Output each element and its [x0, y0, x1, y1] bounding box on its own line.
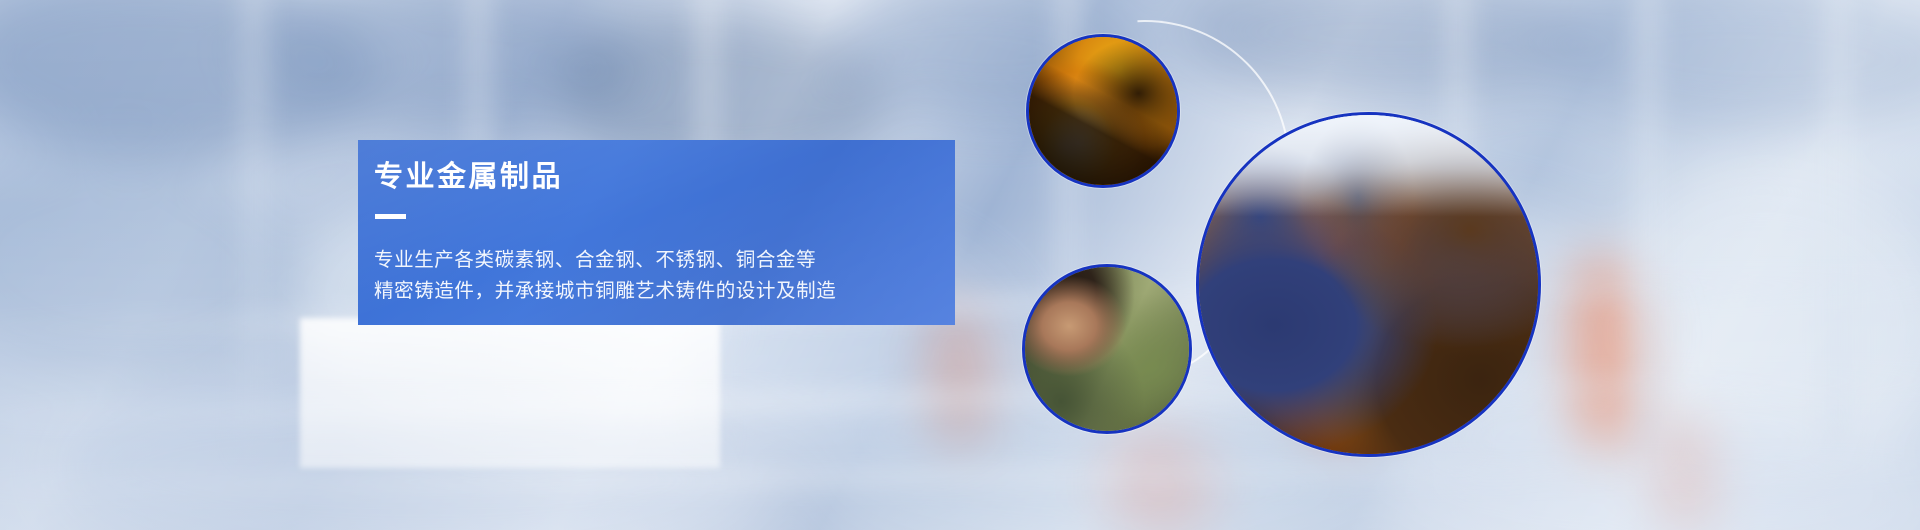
- title-divider-rule: [375, 214, 406, 219]
- page-title: 专业金属制品: [374, 162, 955, 194]
- headline-text-box: 专业金属制品 专业生产各类碳素钢、合金钢、不锈钢、铜合金等 精密铸造件，并承接城…: [358, 140, 955, 325]
- background-haze-overlay: [0, 0, 1920, 530]
- casting-inspection-photo: [1022, 264, 1192, 434]
- promo-banner: 专业金属制品 专业生产各类碳素钢、合金钢、不锈钢、铜合金等 精密铸造件，并承接城…: [0, 0, 1920, 530]
- white-backdrop-panel: [300, 318, 720, 468]
- welding-sparks-photo: [1026, 34, 1180, 188]
- subcopy-line-1: 专业生产各类碳素钢、合金钢、不锈钢、铜合金等: [374, 245, 955, 276]
- foundry-pouring-photo: [1196, 112, 1541, 457]
- subcopy-line-2: 精密铸造件，并承接城市铜雕艺术铸件的设计及制造: [374, 276, 955, 307]
